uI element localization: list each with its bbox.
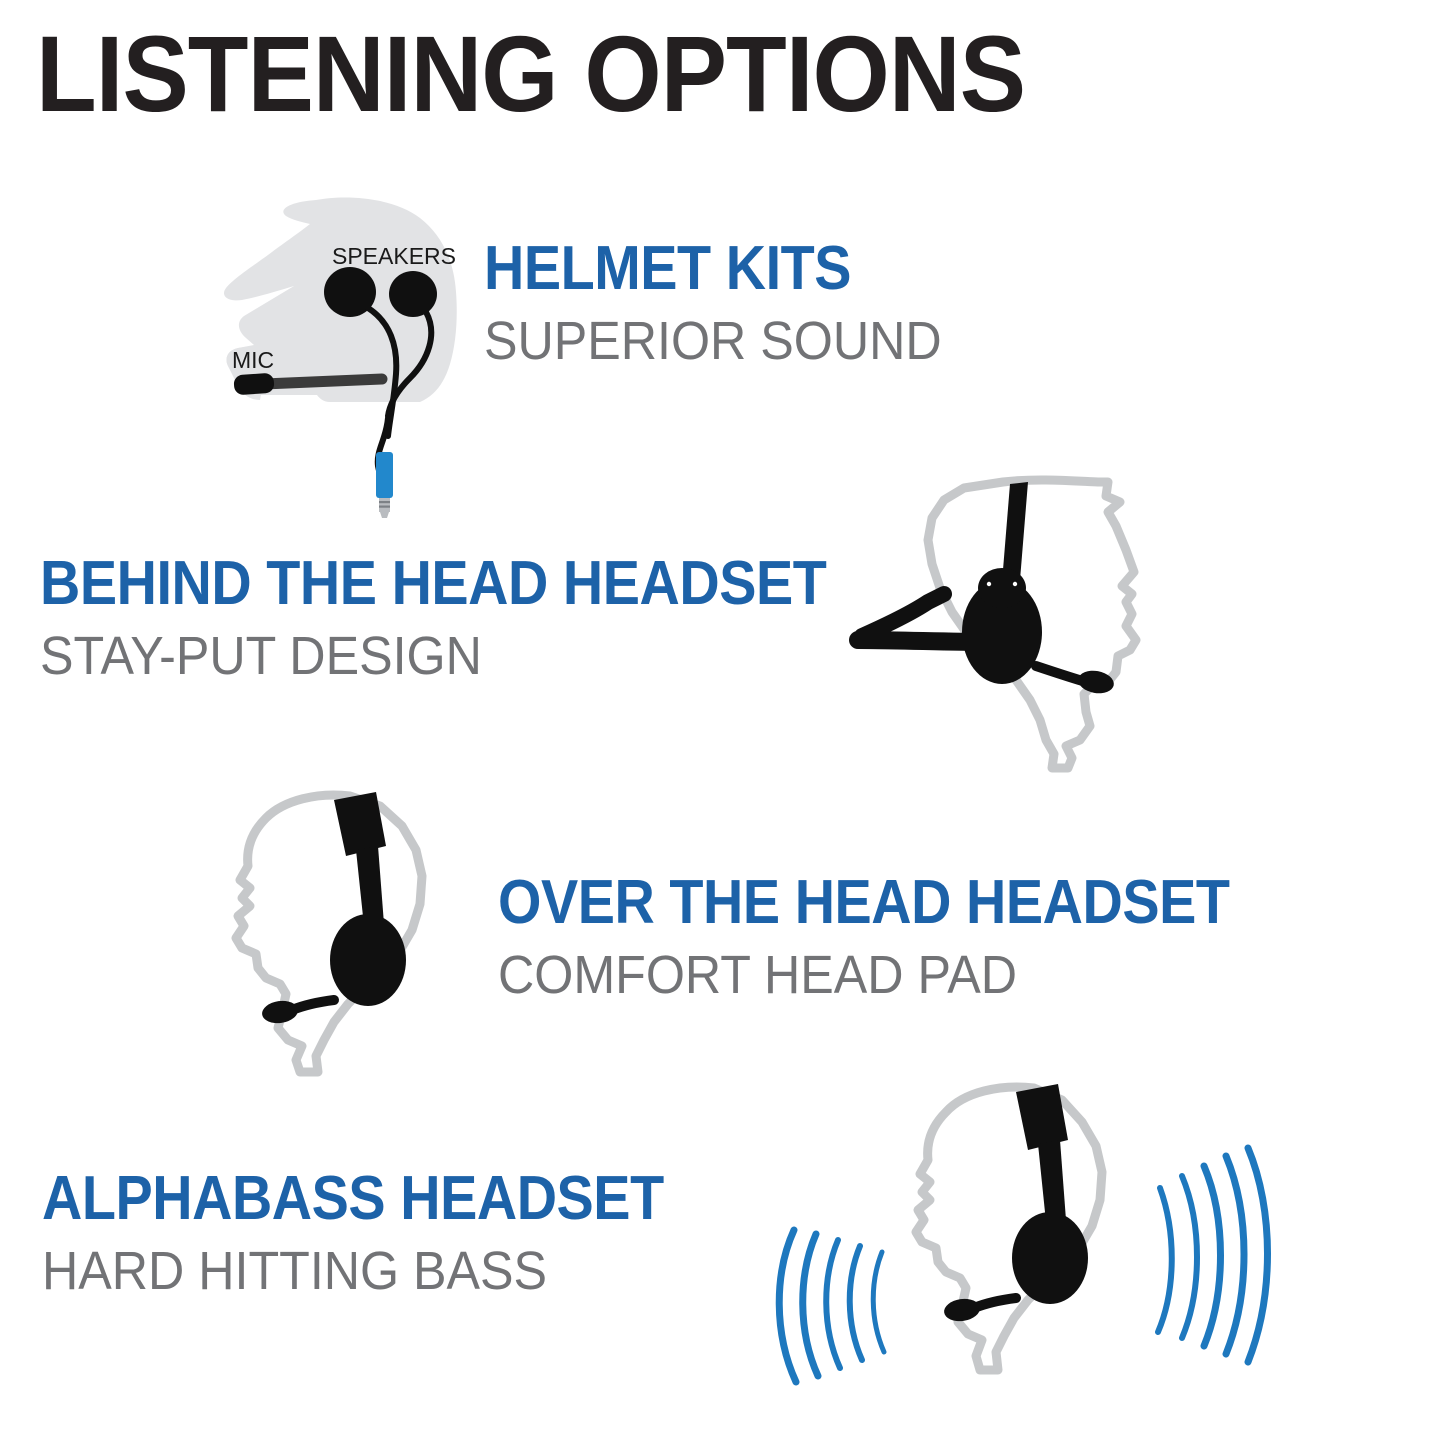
helmet-kits-subtitle: SUPERIOR SOUND	[484, 314, 942, 368]
mic-capsule	[233, 373, 274, 396]
over-the-head-headset-icon	[222, 788, 522, 1088]
behind-the-head-subtitle: STAY-PUT DESIGN	[40, 629, 853, 683]
mic-boom	[264, 379, 382, 384]
behind-head-band-upper	[862, 594, 944, 636]
boom-mic-arm	[974, 1298, 1016, 1308]
helmet-kits-text-block: HELMET KITS SUPERIOR SOUND	[484, 238, 976, 368]
mic-label: MIC	[232, 347, 274, 373]
earcup-yoke	[978, 568, 1026, 608]
boom-mic-arm	[292, 1000, 334, 1010]
comfort-head-pad	[1016, 1084, 1068, 1150]
over-the-head-subtitle: COMFORT HEAD PAD	[498, 948, 1254, 1002]
speaker-right-disc	[389, 271, 437, 317]
alphabass-subtitle: HARD HITTING BASS	[42, 1244, 684, 1298]
earcup	[330, 914, 406, 1006]
behind-the-head-title: BEHIND THE HEAD HEADSET	[40, 553, 826, 615]
earcup	[1012, 1212, 1088, 1304]
boom-mic-capsule	[943, 1297, 982, 1324]
helmet-kit-icon: SPEAKERS MIC	[198, 188, 498, 528]
headband-arm	[1038, 1140, 1066, 1222]
earcup-pivot-right	[1013, 582, 1017, 586]
headband-arm	[356, 846, 384, 926]
speakers-label: SPEAKERS	[332, 243, 456, 269]
alphabass-title: ALPHABASS HEADSET	[42, 1168, 664, 1230]
over-the-head-title: OVER THE HEAD HEADSET	[498, 872, 1230, 934]
over-the-head-text-block: OVER THE HEAD HEADSET COMFORT HEAD PAD	[498, 872, 1311, 1002]
infographic-canvas: LISTENING OPTIONS SPEAKERS MIC	[0, 0, 1445, 1445]
alphabass-text-block: ALPHABASS HEADSET HARD HITTING BASS	[42, 1168, 733, 1298]
behind-the-head-headset-icon	[840, 468, 1170, 773]
audio-jack-icon	[376, 452, 393, 518]
headset-top-arm	[1002, 482, 1028, 582]
boom-mic-capsule	[261, 999, 300, 1026]
sound-waves-right	[1158, 1148, 1268, 1362]
sound-waves-left	[779, 1230, 884, 1382]
behind-the-head-text-block: BEHIND THE HEAD HEADSET STAY-PUT DESIGN	[40, 553, 914, 683]
alphabass-headset-icon	[762, 1078, 1282, 1423]
helmet-kits-title: HELMET KITS	[484, 238, 927, 300]
page-title: LISTENING OPTIONS	[36, 20, 1025, 128]
earcup-pivot-left	[987, 582, 991, 586]
